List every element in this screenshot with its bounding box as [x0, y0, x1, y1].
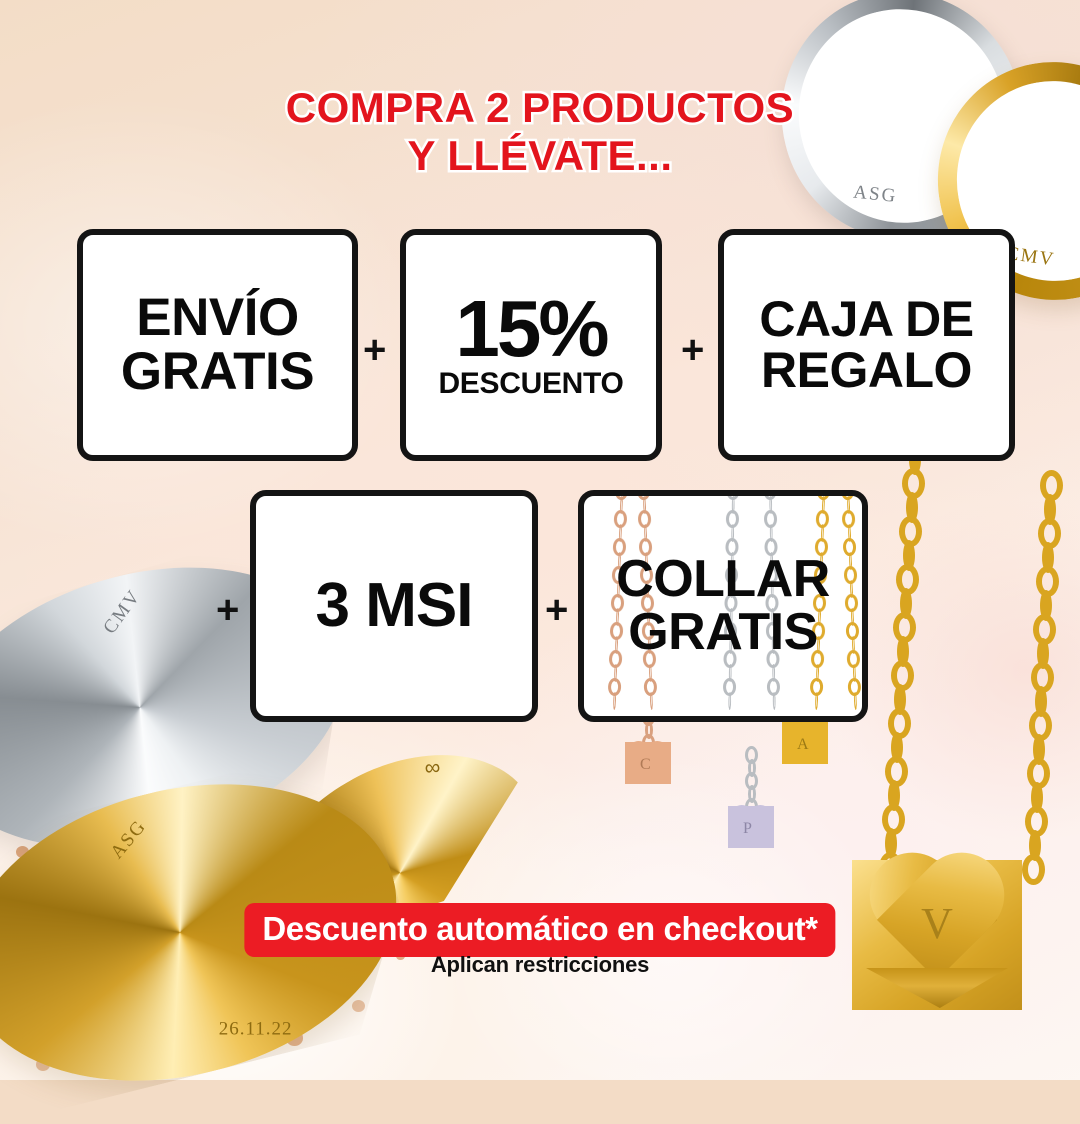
mini-heart-letter: C	[640, 756, 651, 774]
caja-line-1: CAJA DE	[759, 294, 973, 345]
plus-separator-2: +	[681, 330, 704, 370]
benefit-card-collar-text: COLLAR GRATIS	[616, 553, 830, 659]
benefit-card-descuento-text: 15% DESCUENTO	[438, 291, 623, 400]
descuento-label: DESCUENTO	[438, 369, 623, 400]
checkout-discount-banner: Descuento automático en checkout*	[244, 903, 835, 957]
benefit-card-msi-text: 3 MSI	[316, 574, 473, 637]
benefit-card-caja-text: CAJA DE REGALO	[759, 294, 973, 396]
necklace-chain	[841, 490, 864, 722]
benefit-card-caja-de-regalo[interactable]: CAJA DE REGALO	[718, 229, 1015, 461]
headline-line-2: Y LLÉVATE...	[0, 132, 1080, 180]
benefit-card-envio-text: ENVÍO GRATIS	[121, 291, 314, 399]
paint-splatter	[352, 1000, 365, 1012]
gold-heart-pendant: V	[852, 860, 1022, 1010]
envio-line-1: ENVÍO	[121, 291, 314, 345]
mini-heart-letter: A	[797, 736, 809, 754]
gold-cuff-initials: ASG	[106, 816, 151, 864]
restrictions-note: Aplican restricciones	[0, 952, 1080, 978]
chain-link	[772, 692, 775, 710]
msi-line-1: 3 MSI	[316, 574, 473, 637]
infinity-icon: ∞	[424, 754, 441, 781]
silver-ring-engraving: ASG	[852, 182, 898, 208]
gold-necklace-chain-right	[1040, 470, 1070, 918]
chain-link	[728, 692, 731, 710]
benefit-card-collar-gratis[interactable]: COLLAR GRATIS	[578, 490, 868, 722]
chain-link	[814, 692, 817, 710]
plus-separator-3: +	[216, 590, 239, 630]
heart-pendant-letter: V	[921, 898, 953, 949]
caja-line-2: REGALO	[759, 345, 973, 396]
chain-link	[1022, 854, 1045, 885]
descuento-percent: 15%	[438, 291, 623, 367]
chain-link	[853, 692, 856, 710]
benefit-card-3-msi[interactable]: 3 MSI	[250, 490, 538, 722]
benefit-card-envio-gratis[interactable]: ENVÍO GRATIS	[77, 229, 358, 461]
silver-cuff-initials: CMV	[99, 586, 146, 639]
promo-canvas: ASG CMV COMPRA 2 PRODUCTOS Y LLÉVATE... …	[0, 0, 1080, 1080]
chain-link	[649, 692, 652, 710]
gold-necklace-chain-left	[905, 420, 935, 916]
gold-cuff-date: 26.11.22	[219, 1019, 293, 1041]
headline-line-1: COMPRA 2 PRODUCTOS	[286, 84, 794, 131]
benefit-card-descuento[interactable]: 15% DESCUENTO	[400, 229, 662, 461]
mini-heart-letter: P	[743, 820, 752, 838]
page-title: COMPRA 2 PRODUCTOS Y LLÉVATE...	[0, 84, 1080, 180]
collar-line-1: COLLAR	[616, 553, 830, 606]
pendant-chain	[745, 746, 758, 808]
envio-line-2: GRATIS	[121, 345, 314, 399]
collar-line-2: GRATIS	[616, 606, 830, 659]
plus-separator-4: +	[545, 590, 568, 630]
chain-link	[612, 692, 615, 710]
plus-separator-1: +	[363, 330, 386, 370]
